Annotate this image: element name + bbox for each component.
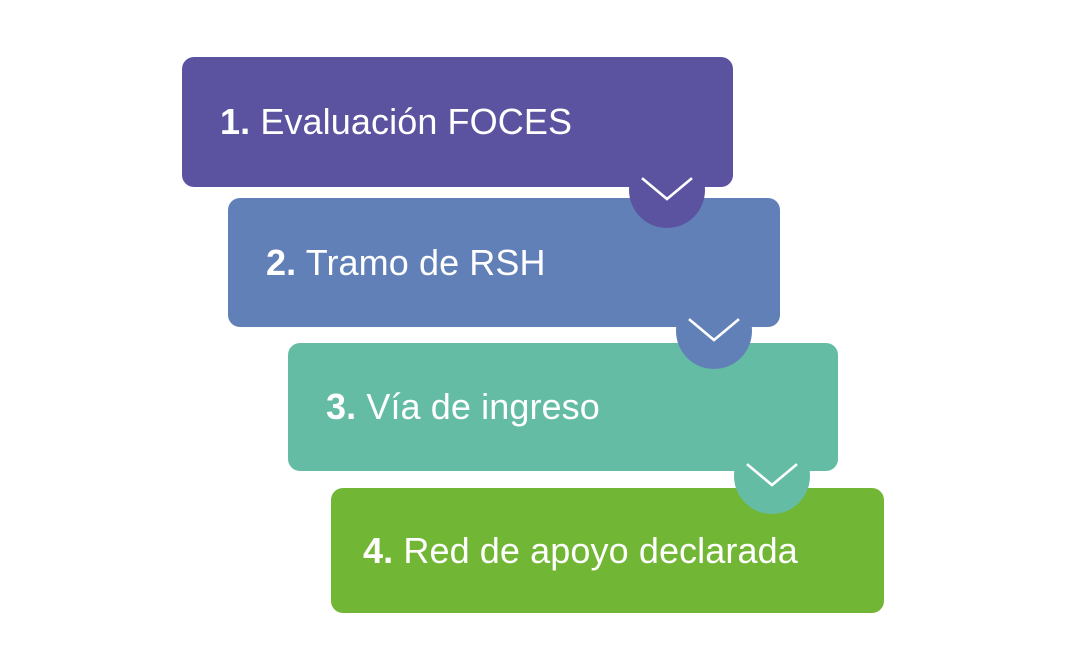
step-title-3: Vía de ingreso — [366, 386, 600, 427]
step-number-3: 3. — [326, 386, 356, 427]
step-title-4: Red de apoyo declarada — [403, 530, 798, 571]
step-title-1: Evaluación FOCES — [260, 101, 572, 142]
step-label-1: 1. Evaluación FOCES — [220, 102, 572, 142]
step-label-3: 3. Vía de ingreso — [326, 387, 600, 427]
step-card-4[interactable]: 4. Red de apoyo declarada — [331, 488, 884, 613]
connector-step-2-to-3 — [676, 293, 752, 369]
chevron-down-icon — [747, 464, 797, 488]
chevron-down-icon — [689, 319, 739, 343]
step-number-4: 4. — [363, 530, 393, 571]
step-number-1: 1. — [220, 101, 250, 142]
diagram-canvas: 1. Evaluación FOCES 2. Tramo de RSH 3. V… — [0, 0, 1080, 670]
step-label-2: 2. Tramo de RSH — [266, 243, 546, 283]
connector-step-3-to-4 — [734, 438, 810, 514]
step-label-4: 4. Red de apoyo declarada — [363, 531, 798, 571]
step-number-2: 2. — [266, 242, 296, 283]
step-title-2: Tramo de RSH — [306, 242, 546, 283]
connector-step-1-to-2 — [629, 152, 705, 228]
chevron-down-icon — [642, 178, 692, 202]
